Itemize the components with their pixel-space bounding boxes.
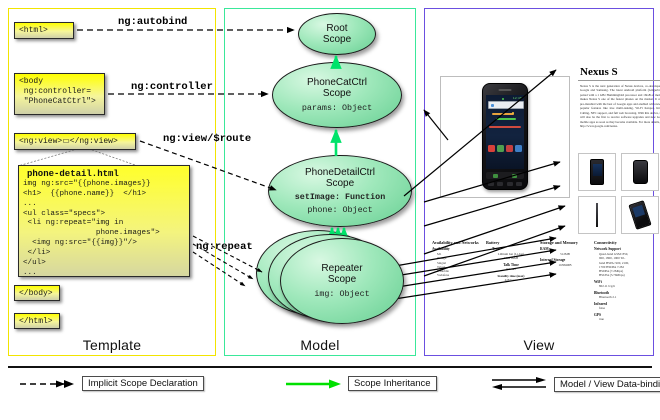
diagram-canvas: Template Model View <html> <body ng:cont… xyxy=(0,0,660,420)
scope-root: Root Scope xyxy=(298,13,376,55)
phone-speaker-icon xyxy=(499,89,512,91)
phone-home-keys xyxy=(488,182,522,187)
legend-label-model-view-data-binding: Model / View Data-binding xyxy=(554,377,660,392)
thumbnail-phone-edge[interactable] xyxy=(578,196,616,234)
legend-dashed-arrow-icon xyxy=(18,378,76,390)
code-box-body-close: </body> xyxy=(14,285,60,301)
code-box-phone-detail: phone-detail.html img ng:src="{{phone.im… xyxy=(18,165,190,277)
scope-detail-line2: Scope xyxy=(326,178,354,189)
spec-table: Availability and Networks Availability M… xyxy=(432,240,646,348)
phone-app-icons xyxy=(488,145,522,152)
phone-device-illustration: 12:45 xyxy=(482,83,528,190)
phone-search-widget-icon xyxy=(488,101,524,109)
column-label-template: Template xyxy=(9,337,215,353)
label-ng-autobind: ng:autobind xyxy=(118,16,187,28)
spec-value-infrared: false xyxy=(594,306,644,310)
scope-detail-property-phone: phone: Object xyxy=(307,205,372,215)
spec-value-internal-storage: 16384MB xyxy=(540,263,590,267)
thumbnail-phone-front[interactable] xyxy=(578,153,616,191)
legend-label-scope-inheritance: Scope Inheritance xyxy=(348,376,437,391)
spec-value-battery-type: Lithium Ion (Li-Ion)1500 mAH xyxy=(486,252,536,261)
spec-value-bluetooth: Bluetooth 2.1 xyxy=(594,295,644,299)
scope-cat-line1: PhoneCatCtrl xyxy=(307,77,367,88)
scope-repeater-line1: Repeater xyxy=(321,263,362,274)
legend-double-arrow-icon xyxy=(490,376,548,392)
scope-detail-line1: PhoneDetailCtrl xyxy=(305,167,375,178)
scope-repeater-property: img: Object xyxy=(314,289,369,299)
code-box-html-open: <html> xyxy=(14,22,74,39)
spec-heading-storage: Storage and Memory xyxy=(540,240,590,245)
spec-heading-connectivity: Connectivity xyxy=(594,240,644,245)
callout-wedge xyxy=(18,150,190,166)
scope-repeater-line2: Scope xyxy=(328,274,356,285)
spec-value-ram: 512MB xyxy=(540,252,590,256)
legend-divider xyxy=(8,366,652,368)
spec-column-storage: Storage and Memory RAM 512MB Internal St… xyxy=(540,240,590,322)
thumbnail-phone-back[interactable] xyxy=(621,153,659,191)
phone-status-time: 12:45 xyxy=(513,96,522,100)
spec-heading-availability: Availability and Networks xyxy=(432,240,482,245)
phone-screen-dot-green xyxy=(502,98,504,100)
scope-detail-property-setimage: setImage: Function xyxy=(295,192,385,202)
spec-value-standby: 428 hours xyxy=(486,278,536,282)
spec-value-gps: true xyxy=(594,317,644,321)
scope-root-line1: Root xyxy=(326,23,347,34)
phone-screen-line-green xyxy=(496,118,516,120)
spec-column-battery: Battery Type Lithium Ion (Li-Ion)1500 mA… xyxy=(486,240,536,322)
code-box-html-close: </html> xyxy=(14,313,60,329)
legend-green-arrow-icon xyxy=(284,378,342,390)
scope-phonedetailctrl: PhoneDetailCtrl Scope setImage: Function… xyxy=(268,155,412,227)
thumbnail-phone-angle[interactable] xyxy=(621,196,659,234)
phone-detail-filename: phone-detail.html xyxy=(19,166,189,180)
phone-detail-code: img ng:src="{{phone.images}} <h1> {{phon… xyxy=(19,180,189,279)
view-content: 12:45 Nexus S Nexus S is the next genera… xyxy=(424,8,654,356)
scope-cat-property: params: Object xyxy=(302,103,372,113)
product-title-rule xyxy=(578,80,660,81)
label-ng-controller: ng:controller xyxy=(131,81,213,93)
legend-item-implicit-scope-declaration: Implicit Scope Declaration xyxy=(18,376,204,391)
spec-value-wifi: 802.11 b/g/n xyxy=(594,284,644,288)
thumbnail-gallery xyxy=(578,153,660,234)
spec-value-availability: M1OrangeSingtelTelcelT-MobileVodafone xyxy=(432,252,482,278)
phone-screen-line-red xyxy=(489,126,521,128)
code-box-ng-view: <ng:view>▭</ng:view> xyxy=(14,133,136,150)
scope-repeater: Repeater Scope img: Object xyxy=(280,238,404,324)
label-ng-view-route: ng:view/$route xyxy=(163,133,251,145)
spec-column-availability: Availability and Networks Availability M… xyxy=(432,240,482,322)
scope-root-line2: Scope xyxy=(323,34,351,45)
legend-label-implicit-scope-declaration: Implicit Scope Declaration xyxy=(82,376,204,391)
phone-screen: 12:45 xyxy=(486,95,524,169)
column-label-model: Model xyxy=(225,337,415,353)
code-box-body-open: <body ng:controller= "PhoneCatCtrl"> xyxy=(14,73,105,115)
legend: Implicit Scope Declaration Scope Inherit… xyxy=(8,376,652,398)
spec-value-talk-time: 6 hours xyxy=(486,267,536,271)
scope-phonecatctrl: PhoneCatCtrl Scope params: Object xyxy=(272,62,402,128)
product-description: Nexus S is the next generation of Nexus … xyxy=(580,84,660,129)
phone-dock-bar xyxy=(486,172,524,179)
label-ng-repeat: ng:repeat xyxy=(196,241,253,253)
phone-screen-line-orange xyxy=(492,113,514,115)
spec-heading-battery: Battery xyxy=(486,240,536,245)
spec-column-connectivity: Connectivity Network Support Quad-band G… xyxy=(594,240,644,322)
legend-item-scope-inheritance: Scope Inheritance xyxy=(284,376,437,391)
phone-hero-image-frame: 12:45 xyxy=(440,76,570,198)
phone-screen-dot-yellow xyxy=(512,112,514,114)
legend-item-model-view-data-binding: Model / View Data-binding xyxy=(490,376,660,392)
scope-cat-line2: Scope xyxy=(323,88,351,99)
spec-value-network-support: Quad-band GSM: 850,900, 1800, 1900 Tri-b… xyxy=(594,252,644,278)
product-title: Nexus S xyxy=(580,66,618,78)
